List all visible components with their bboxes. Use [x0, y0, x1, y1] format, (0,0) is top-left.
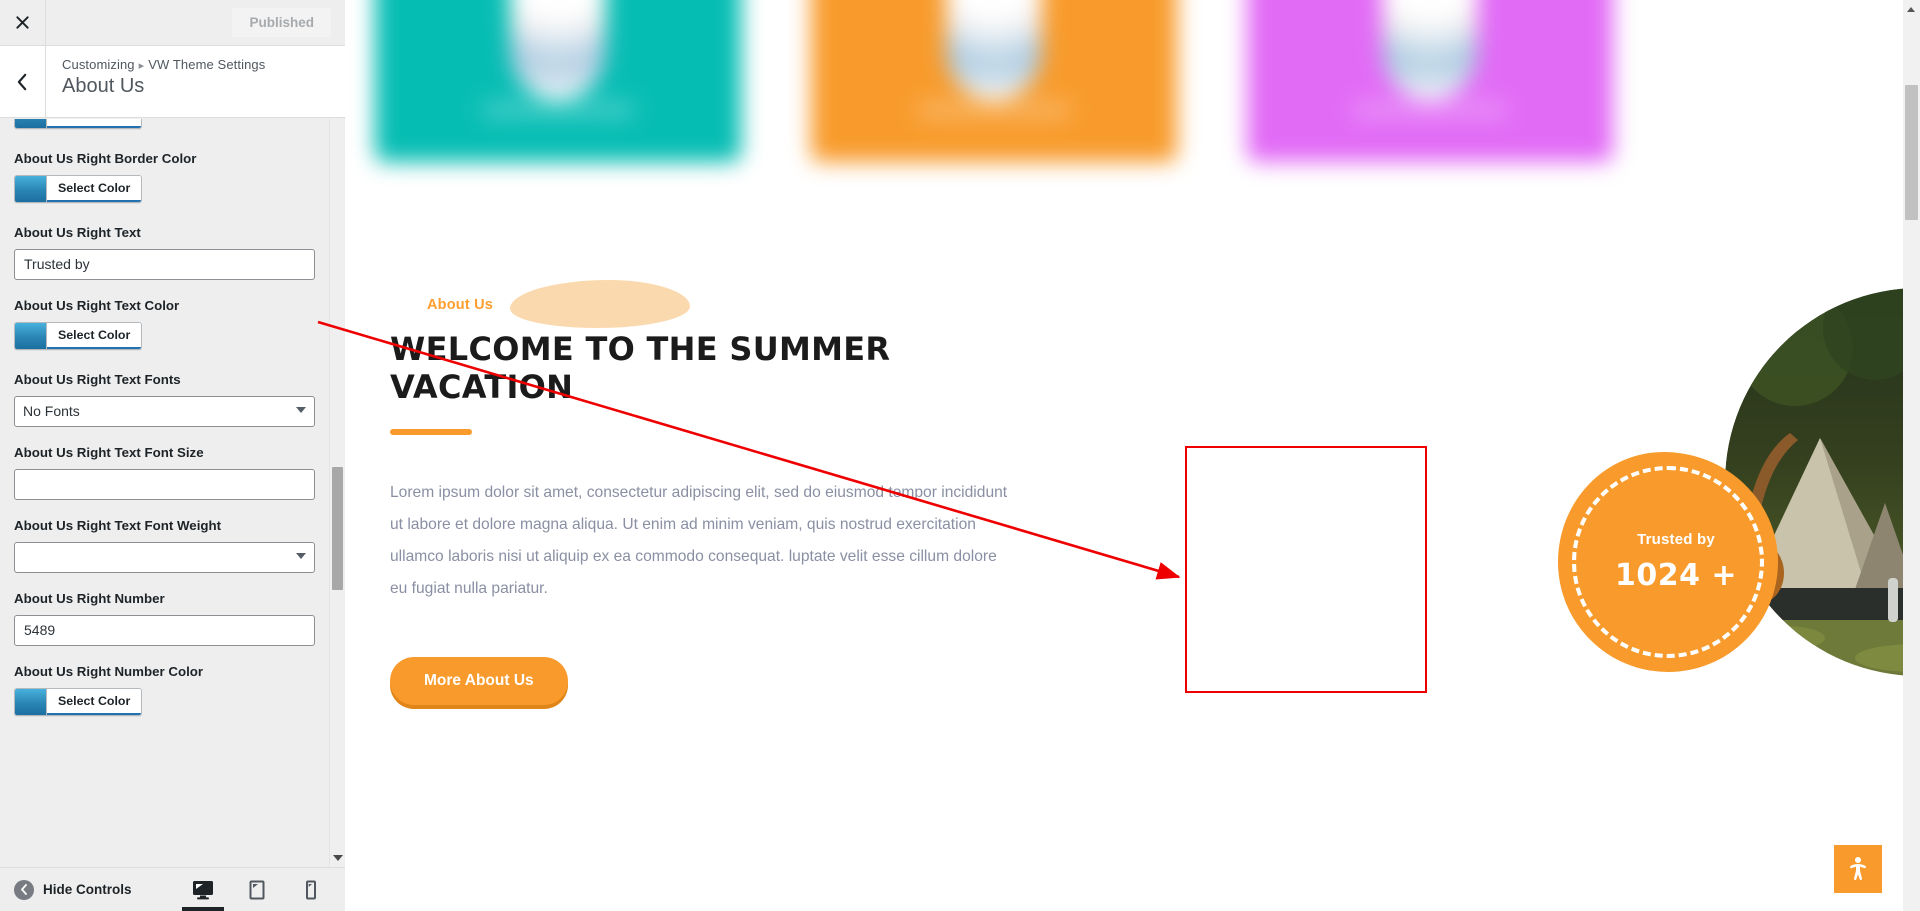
control-label: About Us Right Number Color [14, 662, 315, 682]
control-label: About Us Right Text [14, 223, 315, 243]
preview-scrollbar[interactable] [1903, 0, 1920, 911]
page-title: About Us [62, 73, 329, 100]
select-color-label: Select Color [47, 176, 141, 202]
service-card-image [510, 0, 606, 100]
tablet-preview-button[interactable] [244, 870, 270, 910]
about-us-right-text-font-weight-select[interactable] [14, 542, 315, 573]
breadcrumb-section[interactable]: VW Theme Settings [148, 57, 265, 72]
color-swatch [15, 176, 47, 202]
customizer-screen: About Us WELCOME TO THE SUMMER VACATION … [0, 0, 1920, 911]
control-label: About Us Right Number [14, 589, 315, 609]
service-card[interactable] [811, 0, 1177, 162]
badge-content: Trusted by 1024 + [1558, 452, 1778, 672]
tablet-preview-icon [246, 880, 268, 900]
mobile-preview-button[interactable] [298, 870, 324, 910]
collapse-arrow-icon [14, 880, 34, 900]
control-about-us-right-border-color: About Us Right Border Color Select Color [14, 149, 315, 223]
badge-number: 1024 + [1615, 558, 1737, 593]
desktop-preview-icon [192, 880, 214, 900]
sidebar-scrollbar-thumb[interactable] [332, 467, 343, 590]
service-card-title-placeholder [918, 100, 1070, 120]
color-picker-button[interactable]: Select Color [14, 175, 142, 203]
back-button[interactable] [0, 46, 46, 117]
about-us-tag: About Us [427, 297, 493, 313]
customizer-bottom-bar: Hide Controls [0, 867, 345, 911]
control-about-us-right-text: About Us Right Text [14, 223, 315, 296]
customizer-sidebar: Published Customizing▸VW Theme Settings … [0, 0, 345, 911]
color-picker-button[interactable]: Select Color [14, 688, 142, 716]
preview-scroll-up-arrow[interactable] [1907, 7, 1915, 12]
annotation-box-trusted-badge [1185, 446, 1427, 693]
control-label: About Us Right Border Color [14, 149, 315, 169]
breadcrumb-separator: ▸ [139, 60, 145, 72]
about-us-section: About Us WELCOME TO THE SUMMER VACATION … [390, 290, 1030, 705]
sidebar-scroll-down-arrow[interactable] [333, 855, 343, 861]
breadcrumb-root[interactable]: Customizing [62, 57, 135, 72]
panel-header-text: Customizing▸VW Theme Settings About Us [46, 46, 345, 117]
trusted-by-badge: Trusted by 1024 + [1558, 452, 1778, 672]
control-about-us-right-text-font-size: About Us Right Text Font Size [14, 443, 315, 516]
breadcrumb: Customizing▸VW Theme Settings [62, 57, 329, 72]
hide-controls-label: Hide Controls [43, 882, 132, 897]
service-card-image [1382, 0, 1478, 100]
color-swatch [15, 119, 47, 128]
color-swatch [15, 689, 47, 715]
color-picker-button[interactable]: Select Color [14, 119, 142, 129]
customizer-topbar-actions: Published [46, 0, 345, 45]
about-us-right-text-input[interactable] [14, 249, 315, 280]
select-color-label: Select Color [47, 689, 141, 715]
control-about-us-right-text-fonts: About Us Right Text Fonts No Fonts [14, 370, 315, 443]
customizer-topbar: Published [0, 0, 345, 46]
about-us-tag-blob [510, 280, 690, 328]
about-us-right-text-fonts-select-wrap: No Fonts [14, 396, 315, 427]
control-about-us-right-text-font-weight: About Us Right Text Font Weight [14, 516, 315, 589]
about-us-right-text-font-weight-select-wrap [14, 542, 315, 573]
control-label: About Us Right Text Font Weight [14, 516, 315, 536]
badge-trusted-label: Trusted by [1637, 531, 1715, 548]
mobile-preview-icon [300, 880, 322, 900]
accessibility-fab-button[interactable] [1834, 845, 1882, 893]
control-about-us-right-bg-color: Select Color [14, 119, 315, 149]
color-picker-button[interactable]: Select Color [14, 322, 142, 350]
about-us-right-text-font-size-input[interactable] [14, 469, 315, 500]
about-us-tag-wrap: About Us [390, 290, 1030, 326]
close-customizer-button[interactable] [0, 0, 46, 45]
customizer-panel-header: Customizing▸VW Theme Settings About Us [0, 46, 345, 118]
publish-button[interactable]: Published [232, 8, 331, 37]
hide-controls-button[interactable]: Hide Controls [0, 880, 132, 900]
control-about-us-right-text-color: About Us Right Text Color Select Color [14, 296, 315, 370]
customizer-controls-pane[interactable]: Select Color About Us Right Border Color… [0, 119, 345, 867]
select-color-label: Select Color [47, 323, 141, 349]
close-icon [15, 15, 30, 30]
about-us-paragraph: Lorem ipsum dolor sit amet, consectetur … [390, 477, 1018, 605]
preview-scrollbar-thumb[interactable] [1905, 85, 1918, 220]
color-swatch [15, 323, 47, 349]
about-us-right-number-input[interactable] [14, 615, 315, 646]
control-about-us-right-number-color: About Us Right Number Color Select Color [14, 662, 315, 736]
customizer-controls-list: Select Color About Us Right Border Color… [0, 119, 329, 736]
about-us-heading-underline [390, 429, 472, 435]
service-card[interactable] [375, 0, 741, 162]
service-card-title-placeholder [1354, 100, 1506, 120]
desktop-preview-button[interactable] [190, 870, 216, 910]
about-us-right-text-fonts-select[interactable]: No Fonts [14, 396, 315, 427]
control-label: About Us Right Text Color [14, 296, 315, 316]
control-about-us-right-number: About Us Right Number [14, 589, 315, 662]
service-cards-row [375, 0, 1613, 162]
device-preview-switcher [190, 870, 324, 910]
service-card-image [946, 0, 1042, 100]
accessibility-person-icon [1846, 856, 1870, 882]
theme-preview-frame[interactable]: About Us WELCOME TO THE SUMMER VACATION … [345, 0, 1920, 911]
more-about-us-button[interactable]: More About Us [390, 657, 568, 705]
chevron-left-icon [16, 73, 29, 91]
sidebar-scrollbar[interactable] [329, 119, 344, 867]
service-card-title-placeholder [482, 100, 634, 120]
control-label: About Us Right Text Fonts [14, 370, 315, 390]
service-card[interactable] [1247, 0, 1613, 162]
select-color-label: Select Color [47, 119, 141, 128]
control-label: About Us Right Text Font Size [14, 443, 315, 463]
about-us-heading: WELCOME TO THE SUMMER VACATION [390, 330, 1030, 407]
